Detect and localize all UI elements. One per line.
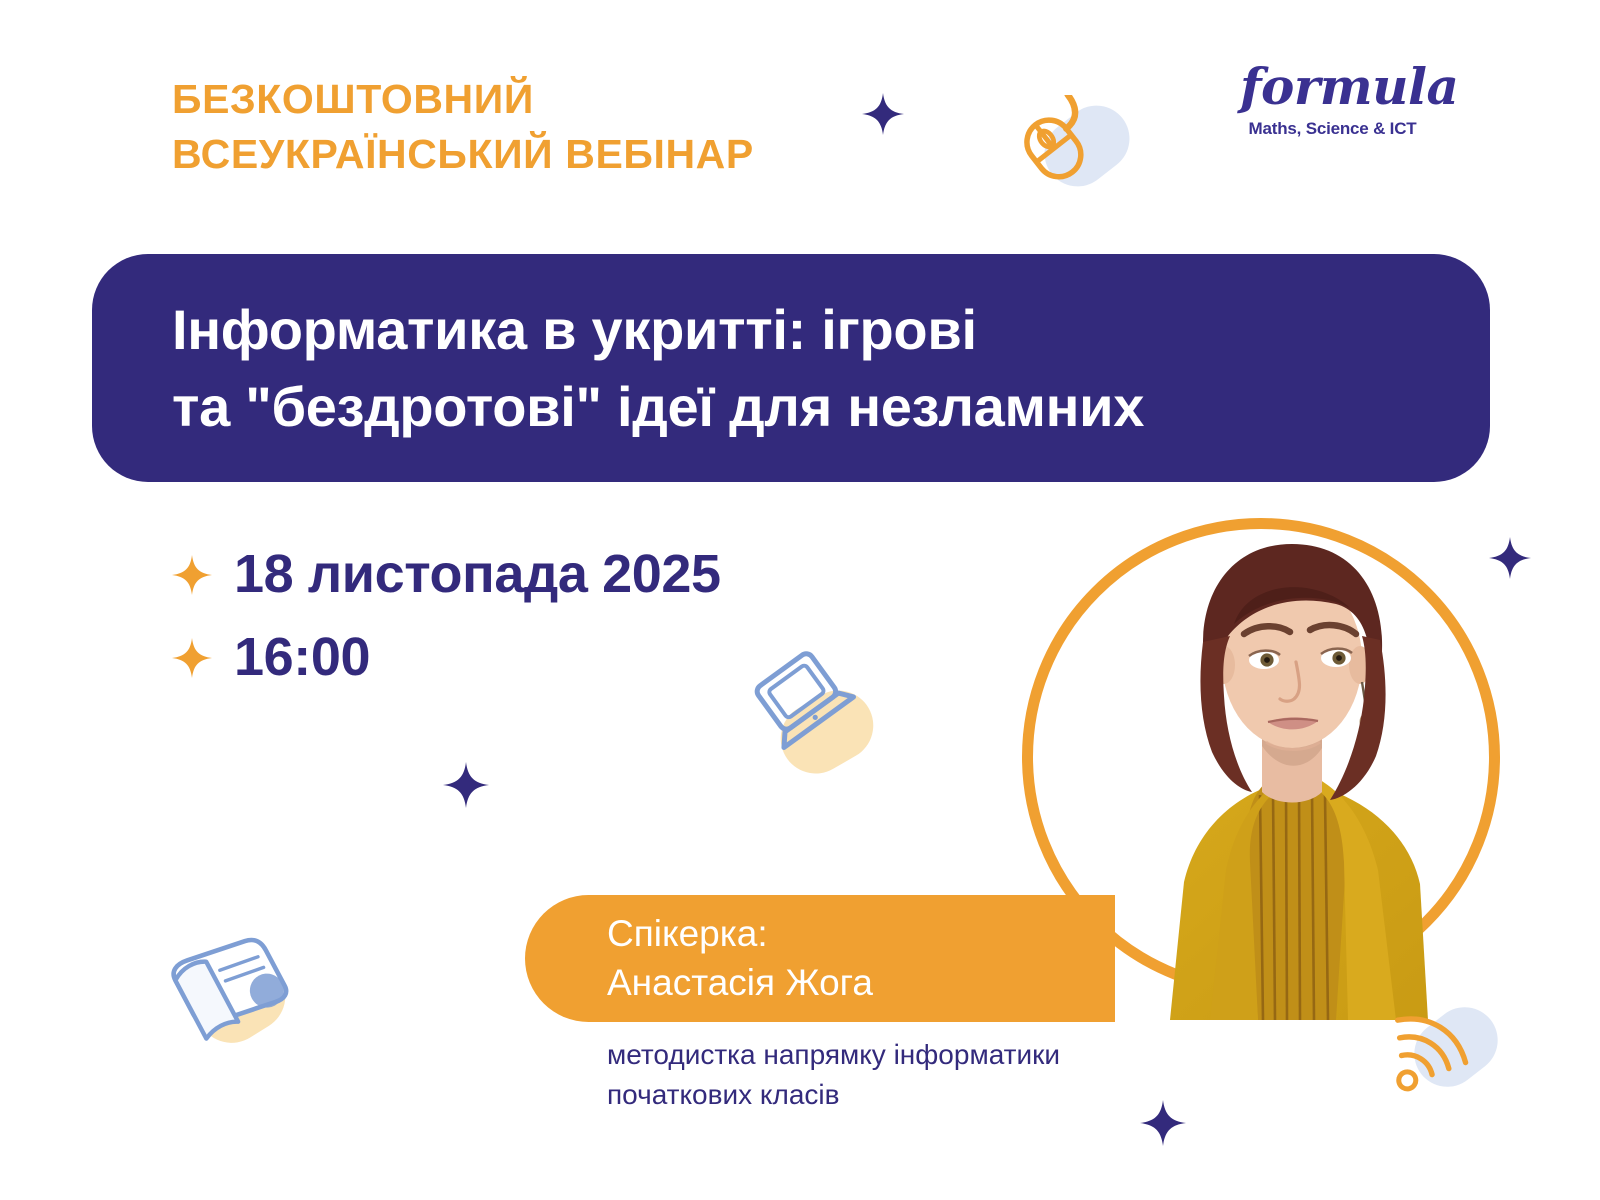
book-icon	[155, 915, 305, 1050]
event-date-row: 18 листопада 2025	[172, 545, 872, 604]
laptop-icon-group	[745, 645, 875, 775]
star-decoration-bottom	[1140, 1100, 1186, 1151]
poster-eyebrow-heading: БЕЗКОШТОВНИЙ ВСЕУКРАЇНСЬКИЙ ВЕБІНАР	[172, 72, 932, 183]
webinar-poster: БЕЗКОШТОВНИЙ ВСЕУКРАЇНСЬКИЙ ВЕБІНАР form…	[0, 0, 1600, 1200]
page-title: Інформатика в укритті: ігрові та "бездро…	[92, 291, 1184, 446]
star-decoration-middle	[443, 762, 489, 813]
star-decoration-top	[862, 93, 904, 140]
speaker-banner: Спікерка: Анастасія Жога	[525, 895, 1115, 1022]
wifi-icon	[1360, 1000, 1490, 1110]
wifi-icon-group	[1360, 1000, 1510, 1120]
mouse-icon-group	[1000, 95, 1130, 205]
speaker-name: Спікерка: Анастасія Жога	[525, 910, 873, 1008]
event-time-label: 16:00	[234, 628, 370, 687]
mouse-icon	[1000, 95, 1110, 195]
star-decoration-right	[1489, 537, 1531, 584]
star-icon	[172, 555, 212, 595]
formula-logo: formula Maths, Science & ICT	[1240, 62, 1425, 154]
title-banner: Інформатика в укритті: ігрові та "бездро…	[92, 254, 1490, 482]
book-icon-group	[155, 915, 315, 1055]
laptop-icon	[745, 645, 865, 765]
star-icon	[172, 638, 212, 678]
logo-wordmark: formula	[1240, 62, 1425, 112]
avatar	[1140, 510, 1440, 1020]
event-date-label: 18 листопада 2025	[234, 545, 721, 604]
logo-tagline: Maths, Science & ICT	[1240, 119, 1425, 139]
